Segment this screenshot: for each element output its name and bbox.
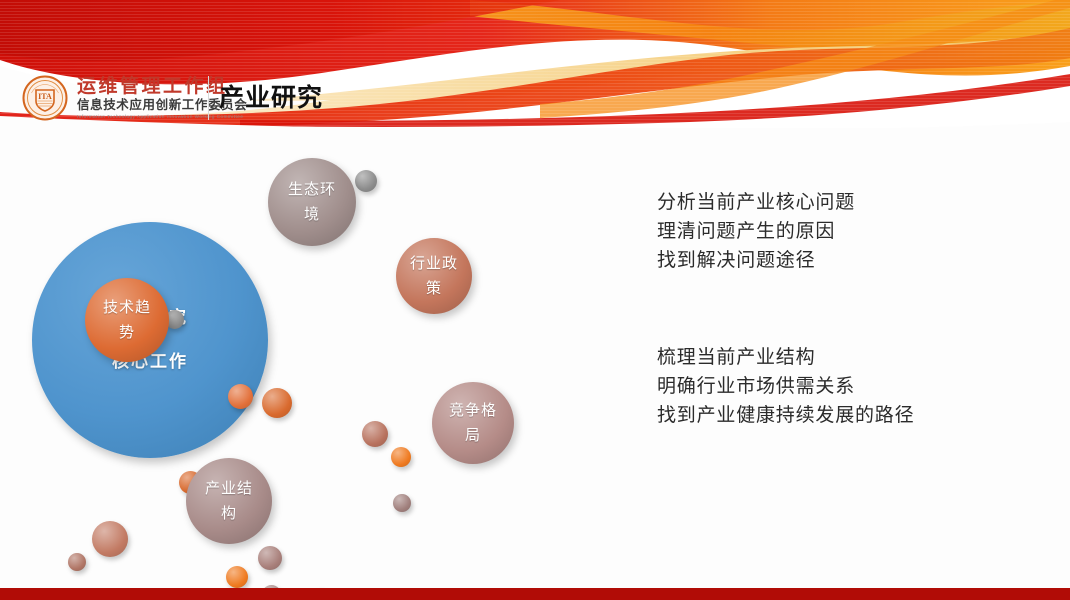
copy1-line3: 找到解决问题途径 [657,246,855,275]
accent-dot [262,388,292,418]
copy1-line2: 理清问题产生的原因 [657,217,855,246]
body-copy-block-1: 分析当前产业核心问题 理清问题产生的原因 找到解决问题途径 [657,188,855,275]
footer-bar [0,588,1070,600]
accent-dot [258,546,282,570]
seal-text: ITA [38,92,52,101]
category-bubble-5: 技术趋势 [85,278,169,362]
category-bubble-2: 行业政策 [396,238,472,314]
accent-dot [355,170,377,192]
category-bubble-3: 竞争格局 [432,382,514,464]
category-bubble-label: 产业结构 [186,476,272,526]
brand-lockup: ITA 运维管理工作组 信息技术应用创新工作委员会 Information Te… [22,72,247,124]
accent-dot [228,384,253,409]
category-bubble-label: 行业政策 [396,251,472,301]
accent-dot [92,521,128,557]
category-bubble-4: 产业结构 [186,458,272,544]
category-bubble-label: 竞争格局 [432,398,514,448]
accent-dot [362,421,388,447]
accent-dot [68,553,86,571]
category-bubble-label: 生态环境 [268,177,356,227]
category-bubble-1: 生态环境 [268,158,356,246]
copy2-line2: 明确行业市场供需关系 [657,372,914,401]
accent-dot [393,494,411,512]
body-copy-block-2: 梳理当前产业结构 明确行业市场供需关系 找到产业健康持续发展的路径 [657,343,914,430]
copy2-line1: 梳理当前产业结构 [657,343,914,372]
committee-seal-icon: ITA [22,75,68,121]
slide: ITA 运维管理工作组 信息技术应用创新工作委员会 Information Te… [0,0,1070,600]
page-title: 产业研究 [219,82,323,114]
accent-dot [391,447,411,467]
copy1-line1: 分析当前产业核心问题 [657,188,855,217]
copy2-line3: 找到产业健康持续发展的路径 [657,401,914,430]
bubble-diagram: 产业研究 核心工作 生态环境行业政策竞争格局产业结构技术趋势 [0,130,620,570]
header-divider [208,76,209,120]
accent-dot [226,566,248,588]
category-bubble-label: 技术趋势 [85,295,169,345]
